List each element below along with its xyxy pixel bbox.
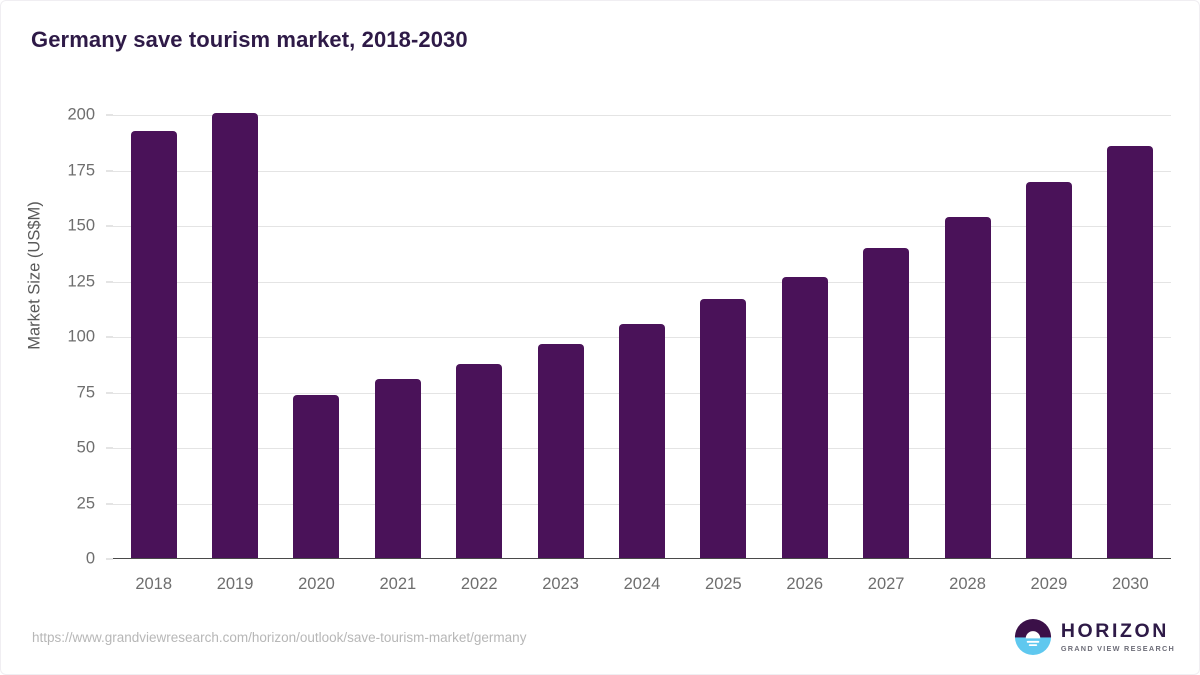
y-tick-label: 25 [31,494,111,513]
bar[interactable] [375,379,421,559]
bar-group[interactable]: 2026 [782,115,828,559]
x-tick-label: 2025 [705,575,742,594]
logo-wordmark: HORIZON [1061,622,1175,642]
logo-tagline: GRAND VIEW RESEARCH [1061,645,1175,652]
bar-group[interactable]: 2029 [1026,115,1072,559]
x-axis-line [113,558,1171,560]
x-tick-label: 2023 [542,575,579,594]
horizon-logo: HORIZON GRAND VIEW RESEARCH [1014,618,1175,656]
plot-area: 0255075100125150175200 20182019202020212… [113,115,1171,559]
x-tick-label: 2029 [1031,575,1068,594]
bar-group[interactable]: 2024 [619,115,665,559]
chart-title: Germany save tourism market, 2018-2030 [31,27,468,53]
bar[interactable] [782,277,828,559]
bar-group[interactable]: 2020 [293,115,339,559]
y-tick-label: 150 [31,217,111,236]
x-tick-label: 2026 [786,575,823,594]
bar-group[interactable]: 2030 [1107,115,1153,559]
logo-text-block: HORIZON GRAND VIEW RESEARCH [1061,622,1175,652]
bar[interactable] [212,113,258,559]
bar-group[interactable]: 2018 [131,115,177,559]
bar[interactable] [538,344,584,559]
y-tick-label: 75 [31,383,111,402]
y-tick-label: 200 [31,106,111,125]
bar-group[interactable]: 2022 [456,115,502,559]
x-tick-label: 2024 [624,575,661,594]
bar[interactable] [619,324,665,559]
x-tick-label: 2022 [461,575,498,594]
bar-group[interactable]: 2028 [945,115,991,559]
x-tick-label: 2027 [868,575,905,594]
bar[interactable] [945,217,991,559]
bar[interactable] [1026,182,1072,559]
x-tick-label: 2020 [298,575,335,594]
y-tick-label: 0 [31,550,111,569]
bar[interactable] [700,299,746,559]
horizon-sun-circle-icon [1014,618,1052,656]
bar[interactable] [863,248,909,559]
x-tick-label: 2021 [379,575,416,594]
bar-group[interactable]: 2021 [375,115,421,559]
y-tick-label: 175 [31,161,111,180]
x-tick-label: 2030 [1112,575,1149,594]
chart-canvas: Germany save tourism market, 2018-2030 M… [0,0,1200,675]
y-tick-label: 100 [31,328,111,347]
bar[interactable] [131,131,177,559]
bar[interactable] [293,395,339,559]
bar-group[interactable]: 2027 [863,115,909,559]
x-tick-label: 2028 [949,575,986,594]
bar[interactable] [1107,146,1153,559]
x-tick-label: 2018 [135,575,172,594]
x-tick-label: 2019 [217,575,254,594]
source-url-text: https://www.grandviewresearch.com/horizo… [32,630,526,645]
y-tick-label: 50 [31,439,111,458]
bar-series: 2018201920202021202220232024202520262027… [113,115,1171,559]
y-tick-label: 125 [31,272,111,291]
bar-group[interactable]: 2025 [700,115,746,559]
bar-group[interactable]: 2019 [212,115,258,559]
bar[interactable] [456,364,502,559]
bar-group[interactable]: 2023 [538,115,584,559]
